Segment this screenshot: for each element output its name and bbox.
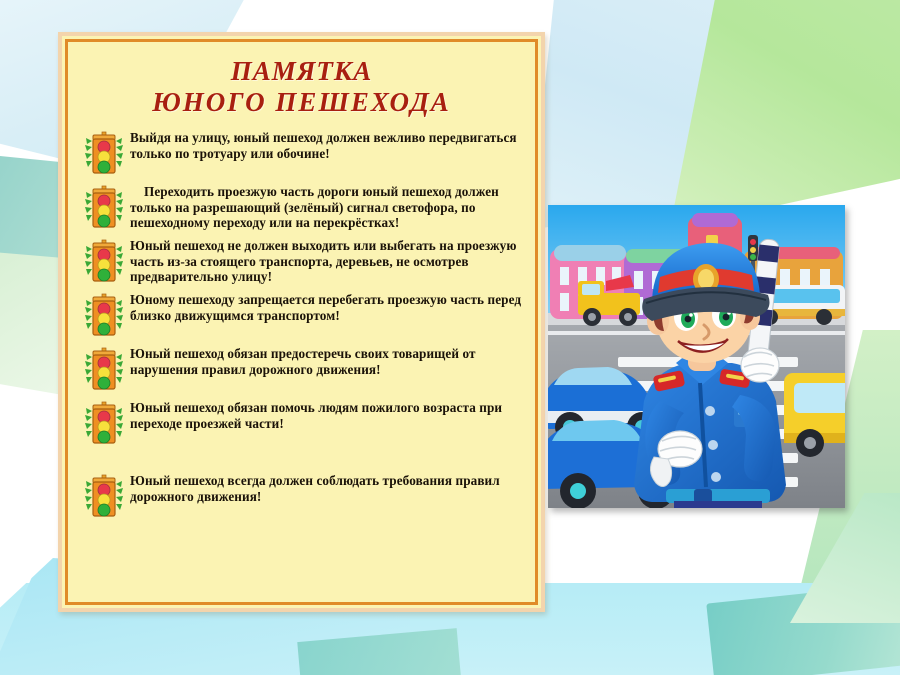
list-item: Юный пешеход не должен выходить или выбе… bbox=[84, 238, 525, 285]
traffic-light-icon bbox=[84, 346, 126, 393]
list-item: Юный пешеход обязан предостеречь своих т… bbox=[84, 346, 525, 393]
traffic-light-icon bbox=[84, 400, 126, 447]
memo-card-inner-frame: ПАМЯТКА ЮНОГО ПЕШЕХОДА bbox=[65, 39, 538, 605]
list-item: Юный пешеход всегда должен соблюдать тре… bbox=[84, 473, 525, 520]
list-item-label: Юный пешеход обязан предостеречь своих т… bbox=[126, 346, 525, 377]
list-item: Выйдя на улицу, юный пешеход должен вежл… bbox=[84, 130, 525, 177]
cartoon-boy-traffic-inspector-image bbox=[548, 205, 845, 508]
list-item-label: Переходить проезжую часть дороги юный пе… bbox=[126, 184, 525, 231]
traffic-light-icon bbox=[84, 130, 126, 177]
traffic-light-icon bbox=[84, 473, 126, 520]
list-item-label: Юному пешеходу запрещается перебегать пр… bbox=[126, 292, 525, 323]
list-item: Переходить проезжую часть дороги юный пе… bbox=[84, 184, 525, 231]
list-item-label: Юный пешеход всегда должен соблюдать тре… bbox=[126, 473, 525, 504]
list-item: Юному пешеходу запрещается перебегать пр… bbox=[84, 292, 525, 339]
page-title: ПАМЯТКА ЮНОГО ПЕШЕХОДА bbox=[68, 56, 535, 118]
list-item-label: Юный пешеход обязан помочь людям пожилог… bbox=[126, 400, 525, 431]
traffic-light-icon bbox=[84, 292, 126, 339]
list-item: Юный пешеход обязан помочь людям пожилог… bbox=[84, 400, 525, 447]
traffic-light-icon bbox=[84, 238, 126, 285]
list-item-label: Юный пешеход не должен выходить или выбе… bbox=[126, 238, 525, 285]
memo-card: ПАМЯТКА ЮНОГО ПЕШЕХОДА bbox=[58, 32, 545, 612]
page-title-line-1: ПАМЯТКА bbox=[68, 56, 535, 86]
rules-list: Выйдя на улицу, юный пешеход должен вежл… bbox=[68, 130, 535, 520]
page-title-line-2: ЮНОГО ПЕШЕХОДА bbox=[68, 86, 535, 118]
illustration-photo bbox=[548, 205, 845, 508]
list-item-label: Выйдя на улицу, юный пешеход должен вежл… bbox=[126, 130, 525, 161]
traffic-light-icon bbox=[84, 184, 126, 231]
